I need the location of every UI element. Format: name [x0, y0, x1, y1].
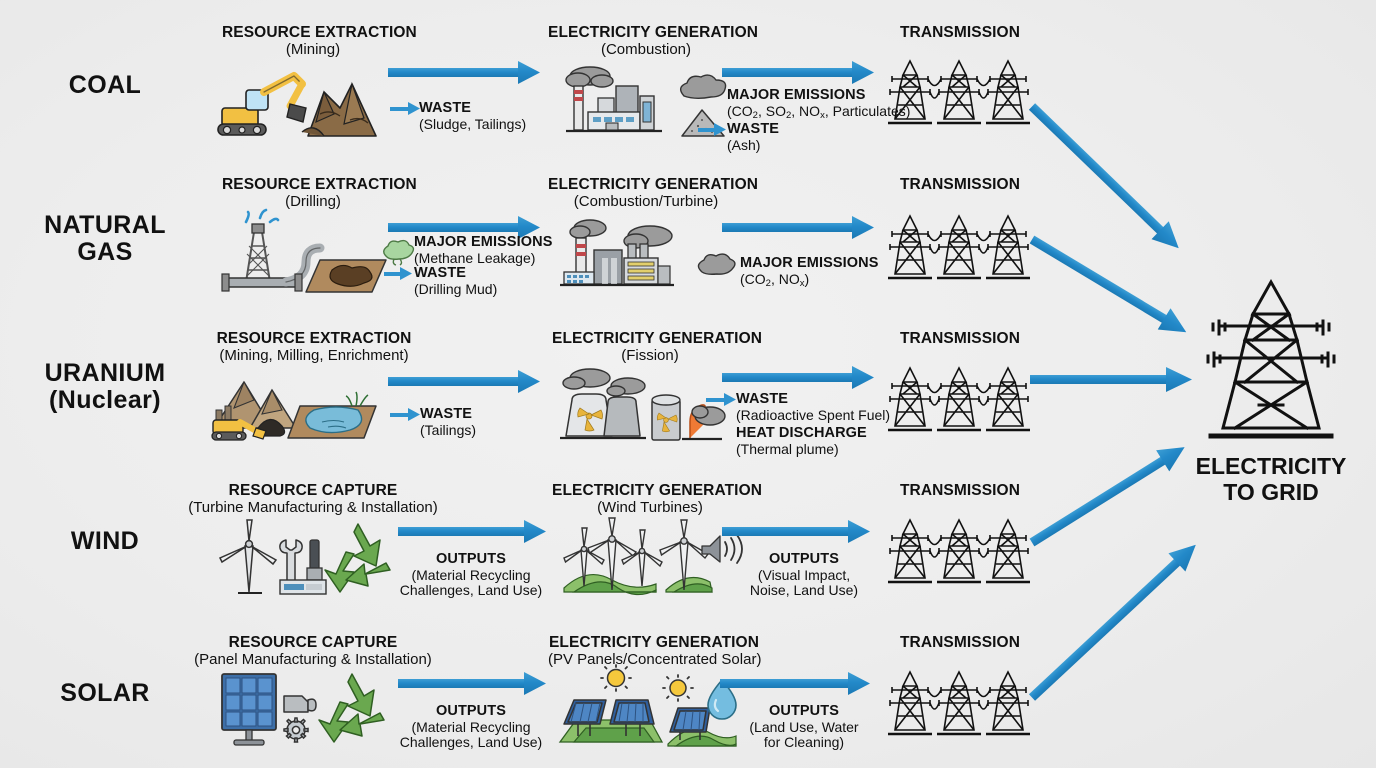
arrow-shaft — [388, 68, 523, 77]
stage-title: ELECTRICITY GENERATION — [548, 24, 744, 42]
row-coal: COAL RESOURCE EXTRACTION (Mining) — [0, 0, 1180, 150]
gas-generation-to-transmission-arrow[interactable] — [722, 220, 874, 235]
output-detail-line-1: (Material Recycling — [386, 568, 556, 584]
wind-generation-header: ELECTRICITY GENERATION (Wind Turbines) — [552, 482, 748, 516]
output-kind: MAJOR EMISSIONS — [727, 87, 910, 104]
output-detail: (Radioactive Spent Fuel) — [736, 408, 890, 424]
stage-title: TRANSMISSION — [880, 482, 1040, 500]
solar-generation-to-transmission-arrow[interactable] — [720, 676, 870, 691]
output-detail-line-1: (Visual Impact, — [730, 568, 878, 584]
stage-title: TRANSMISSION — [880, 24, 1040, 42]
gas-extraction-waste-label: WASTE (Drilling Mud) — [414, 265, 497, 297]
solar-generation-outputs-label: OUTPUTS (Land Use, Water for Cleaning) — [730, 703, 878, 751]
output-kind: MAJOR EMISSIONS — [414, 234, 552, 251]
arrow-head — [852, 366, 874, 389]
transmission-tower-icon — [1205, 278, 1337, 450]
arrow-head — [848, 672, 870, 695]
wind-capture-outputs-label: OUTPUTS (Material Recycling Challenges, … — [386, 551, 556, 599]
output-kind: WASTE — [419, 100, 526, 117]
arrow-shaft — [722, 527, 853, 536]
ore-mining-and-tailings-pond-icon — [210, 366, 384, 442]
gas-generation-emissions-label: MAJOR EMISSIONS (CO2, NOx) — [740, 255, 878, 289]
stage-subtitle: (Combustion) — [548, 42, 744, 59]
gas-generation-header: ELECTRICITY GENERATION (Combustion/Turbi… — [548, 176, 744, 210]
arrow-shaft — [388, 223, 523, 232]
gas-extraction-header: RESOURCE EXTRACTION (Drilling) — [222, 176, 404, 210]
arrow-shaft — [398, 679, 529, 688]
stage-title: ELECTRICITY GENERATION — [552, 330, 748, 348]
gas-generation-icons — [558, 214, 676, 294]
stage-subtitle: (Mining, Milling, Enrichment) — [196, 348, 432, 365]
coal-generation-emissions-label: MAJOR EMISSIONS (CO2, SO2, NOx, Particul… — [727, 87, 910, 121]
gas-extraction-emissions-label: MAJOR EMISSIONS (Methane Leakage) — [414, 234, 552, 266]
power-lines-icon — [884, 55, 1034, 127]
uranium-transmission-header: TRANSMISSION — [880, 330, 1040, 348]
solar-capture-header: RESOURCE CAPTURE (Panel Manufacturing & … — [190, 634, 436, 668]
solar-generation-header: ELECTRICITY GENERATION (PV Panels/Concen… — [548, 634, 760, 668]
power-lines-icon — [884, 210, 1034, 282]
wind-farm-icon — [562, 516, 742, 596]
coal-transmission-header: TRANSMISSION — [880, 24, 1040, 42]
gas-extraction-to-generation-arrow[interactable] — [388, 220, 540, 235]
label-line-1: URANIUM — [45, 359, 166, 387]
output-kind: WASTE — [414, 265, 497, 282]
arrow-head — [848, 520, 870, 543]
arrow-shaft — [390, 107, 410, 112]
stage-subtitle: (Panel Manufacturing & Installation) — [190, 652, 436, 669]
row-solar: SOLAR RESOURCE CAPTURE (Panel Manufactur… — [0, 608, 1180, 758]
arrow-shaft — [390, 413, 410, 418]
stage-subtitle: (Wind Turbines) — [552, 500, 748, 517]
arrow-head — [852, 216, 874, 239]
arrow-shaft — [384, 272, 402, 277]
output-kind: WASTE — [736, 391, 890, 408]
label-line-2: (Nuclear) — [49, 386, 161, 414]
stage-subtitle: (Combustion/Turbine) — [548, 194, 744, 211]
coal-transmission-icons — [884, 55, 1034, 127]
solar-transmission-header: TRANSMISSION — [880, 634, 1040, 652]
coal-extraction-waste-label: WASTE (Sludge, Tailings) — [419, 100, 526, 132]
turbine-manufacturing-and-recycle-icon — [214, 518, 394, 600]
wind-generation-icons — [562, 516, 742, 596]
uranium-generation-header: ELECTRICITY GENERATION (Fission) — [552, 330, 748, 364]
label-line-1: NATURAL — [44, 211, 166, 239]
output-detail: (Sludge, Tailings) — [419, 117, 526, 133]
stage-subtitle: (Drilling) — [222, 194, 404, 211]
row-natural-gas: NATURAL GAS RESOURCE EXTRACTION (Drillin… — [0, 152, 1180, 302]
panel-manufacturing-and-recycle-icon — [214, 670, 392, 750]
row-label-coal: COAL — [10, 72, 200, 99]
oil-derrick-and-spill-icon — [216, 212, 394, 294]
power-lines-icon — [884, 362, 1034, 434]
output-kind: OUTPUTS — [730, 703, 878, 720]
gas-waste-arrow[interactable] — [384, 269, 412, 278]
arrow-shaft — [1030, 375, 1172, 384]
row-label-natural-gas: NATURAL GAS — [10, 212, 200, 266]
uranium-heat-discharge-label: HEAT DISCHARGE (Thermal plume) — [736, 425, 867, 457]
label-line-2: GAS — [77, 238, 132, 266]
coal-ash-waste-arrow[interactable] — [698, 125, 726, 134]
arrow-head — [852, 61, 874, 84]
output-detail: (Drilling Mud) — [414, 282, 497, 298]
stage-subtitle: (Fission) — [552, 348, 748, 365]
output-detail: (CO2, SO2, NOx, Particulates) — [727, 104, 910, 122]
output-detail-line-1: (Material Recycling — [386, 720, 556, 736]
energy-lifecycle-diagram: COAL RESOURCE EXTRACTION (Mining) — [0, 0, 1376, 768]
stage-title: RESOURCE EXTRACTION — [222, 24, 404, 42]
wind-capture-to-generation-arrow[interactable] — [398, 524, 546, 539]
row-label-wind: WIND — [10, 528, 200, 555]
stage-title: TRANSMISSION — [880, 634, 1040, 652]
arrow-shaft — [722, 373, 857, 382]
stage-title: ELECTRICITY GENERATION — [548, 634, 760, 652]
row-wind: WIND RESOURCE CAPTURE (Turbine Manufactu… — [0, 456, 1180, 606]
uranium-extraction-icons — [210, 366, 384, 442]
arrow-head — [400, 267, 412, 280]
stage-title: ELECTRICITY GENERATION — [548, 176, 744, 194]
output-kind: WASTE — [727, 121, 779, 138]
power-lines-icon — [884, 514, 1034, 586]
output-kind: MAJOR EMISSIONS — [740, 255, 878, 272]
stage-title: RESOURCE CAPTURE — [190, 634, 436, 652]
arrow-head — [518, 61, 540, 84]
coal-generation-header: ELECTRICITY GENERATION (Combustion) — [548, 24, 744, 58]
electricity-to-grid: ELECTRICITY TO GRID — [1176, 278, 1366, 506]
arrow-head — [724, 393, 736, 406]
wind-generation-outputs-label: OUTPUTS (Visual Impact, Noise, Land Use) — [730, 551, 878, 599]
output-kind: WASTE — [420, 406, 476, 423]
uranium-extraction-header: RESOURCE EXTRACTION (Mining, Milling, En… — [196, 330, 432, 364]
uranium-generation-waste-label: WASTE (Radioactive Spent Fuel) — [736, 391, 890, 423]
output-detail-line-2: for Cleaning) — [730, 735, 878, 751]
solar-transmission-icons — [884, 666, 1034, 738]
green-gas-cloud-icon — [380, 239, 414, 267]
wind-transmission-header: TRANSMISSION — [880, 482, 1040, 500]
gas-transmission-icons — [884, 210, 1034, 282]
coal-generation-waste-label: WASTE (Ash) — [727, 121, 779, 153]
uranium-extraction-waste-label: WASTE (Tailings) — [420, 406, 476, 438]
wind-generation-to-transmission-arrow[interactable] — [722, 524, 870, 539]
uranium-spent-fuel-arrow[interactable] — [706, 395, 736, 404]
stage-title: TRANSMISSION — [880, 330, 1040, 348]
grid-caption: ELECTRICITY TO GRID — [1176, 454, 1366, 506]
solar-capture-outputs-label: OUTPUTS (Material Recycling Challenges, … — [386, 703, 556, 751]
row-label-uranium: URANIUM (Nuclear) — [10, 360, 200, 414]
output-detail-line-2: Challenges, Land Use) — [386, 583, 556, 599]
stage-title: RESOURCE CAPTURE — [188, 482, 438, 500]
arrow-shaft — [706, 398, 726, 403]
row-uranium: URANIUM (Nuclear) RESOURCE EXTRACTION (M… — [0, 304, 1180, 454]
output-detail-line-2: Challenges, Land Use) — [386, 735, 556, 751]
arrow-shaft — [398, 527, 529, 536]
arrow-shaft — [722, 223, 857, 232]
output-kind: OUTPUTS — [386, 703, 556, 720]
uranium-to-grid-arrow[interactable] — [1030, 372, 1192, 387]
stage-title: ELECTRICITY GENERATION — [552, 482, 748, 500]
solar-capture-icons — [214, 670, 392, 750]
arrow-head — [408, 408, 420, 421]
coal-waste-arrow[interactable] — [390, 104, 420, 113]
uranium-waste-arrow[interactable] — [390, 410, 420, 419]
uranium-transmission-icons — [884, 362, 1034, 434]
output-detail: (Tailings) — [420, 423, 476, 439]
grid-caption-line-2: TO GRID — [1223, 479, 1318, 505]
arrow-head — [524, 672, 546, 695]
solar-capture-to-generation-arrow[interactable] — [398, 676, 546, 691]
solar-generation-icons — [558, 666, 738, 748]
output-detail: (CO2, NOx) — [740, 272, 878, 290]
arrow-shaft — [698, 128, 716, 133]
row-label-solar: SOLAR — [10, 680, 200, 707]
gas-transmission-header: TRANSMISSION — [880, 176, 1040, 194]
nuclear-plant-icon — [550, 364, 728, 444]
wind-transmission-icons — [884, 514, 1034, 586]
coal-power-plant-icon — [560, 62, 668, 140]
uranium-generation-to-transmission-arrow[interactable] — [722, 370, 874, 385]
arrow-shaft — [388, 377, 523, 386]
stage-title: RESOURCE EXTRACTION — [222, 176, 404, 194]
gas-extraction-icons — [216, 212, 394, 294]
smoke-cloud-icon — [694, 252, 738, 282]
output-detail-line-2: Noise, Land Use) — [730, 583, 878, 599]
stage-subtitle: (Mining) — [222, 42, 404, 59]
gas-power-plant-icon — [558, 214, 676, 294]
coal-extraction-to-generation-arrow[interactable] — [388, 65, 540, 80]
stage-title: TRANSMISSION — [880, 176, 1040, 194]
uranium-generation-icons — [550, 364, 728, 444]
arrow-shaft — [722, 68, 857, 77]
coal-extraction-icons — [216, 62, 388, 140]
coal-generation-to-transmission-arrow[interactable] — [722, 65, 874, 80]
power-lines-icon — [884, 666, 1034, 738]
wind-capture-icons — [214, 518, 394, 600]
output-detail-line-1: (Land Use, Water — [730, 720, 878, 736]
stage-title: RESOURCE EXTRACTION — [196, 330, 432, 348]
stage-subtitle: (Turbine Manufacturing & Installation) — [188, 500, 438, 517]
wind-capture-header: RESOURCE CAPTURE (Turbine Manufacturing … — [188, 482, 438, 516]
excavator-icon — [216, 62, 388, 140]
arrow-head — [518, 370, 540, 393]
arrow-shaft — [720, 679, 853, 688]
grid-caption-line-1: ELECTRICITY — [1196, 453, 1347, 479]
uranium-extraction-to-generation-arrow[interactable] — [388, 374, 540, 389]
arrow-head — [524, 520, 546, 543]
coal-extraction-header: RESOURCE EXTRACTION (Mining) — [222, 24, 404, 58]
solar-array-icon — [558, 666, 738, 748]
output-kind: HEAT DISCHARGE — [736, 425, 867, 442]
output-kind: OUTPUTS — [730, 551, 878, 568]
output-kind: OUTPUTS — [386, 551, 556, 568]
